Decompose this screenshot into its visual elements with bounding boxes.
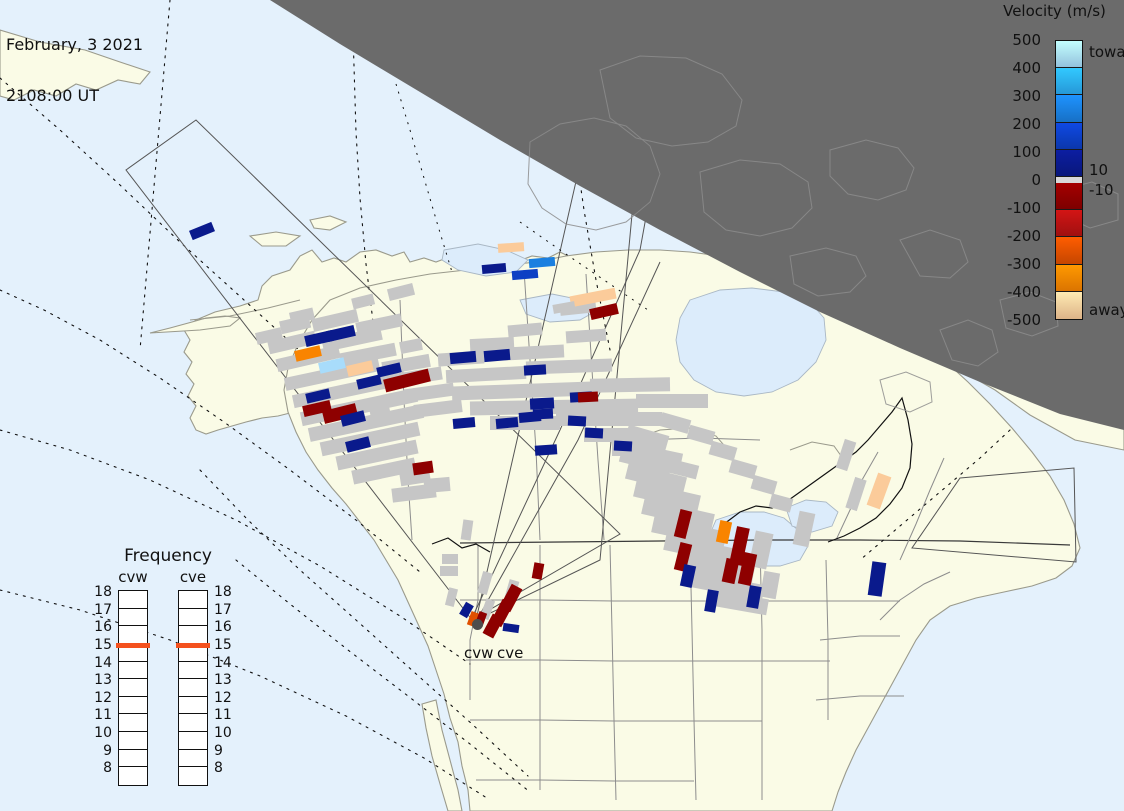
frequency-cell (119, 591, 147, 609)
colorbar-negative-threshold-label: -10 (1089, 181, 1114, 199)
colorbar-tick-label: 300 (1012, 87, 1041, 105)
frequency-tick-label: 12 (84, 690, 112, 706)
colorbar-tick-label: 0 (1031, 171, 1041, 189)
frequency-cell (179, 697, 207, 715)
colorbar-segment (1056, 237, 1082, 264)
frequency-cell (179, 714, 207, 732)
frequency-tick-label: 10 (214, 725, 242, 741)
colorbar-segment (1056, 68, 1082, 95)
frequency-tick-label: 11 (84, 707, 112, 723)
colorbar-segment (1056, 41, 1082, 68)
colorbar-title: Velocity (m/s) (985, 2, 1124, 20)
frequency-column-label: cve (166, 568, 220, 586)
frequency-tick-label: 15 (214, 637, 242, 653)
velocity-colorbar: Velocity (m/s) 5004003002001000-100-200-… (985, 0, 1124, 340)
colorbar-segment (1056, 150, 1082, 177)
colorbar-tick-label: 400 (1012, 59, 1041, 77)
velocity-cell (496, 417, 519, 429)
colorbar-segment (1056, 183, 1082, 210)
colorbar-tick-label: 500 (1012, 31, 1041, 49)
frequency-column-label: cvw (106, 568, 160, 586)
frequency-marker (176, 643, 210, 648)
colorbar-segment (1056, 95, 1082, 122)
velocity-cell (535, 444, 558, 456)
frequency-tick-label: 18 (214, 584, 242, 600)
frequency-tick-label: 14 (214, 655, 242, 671)
velocity-cell (568, 416, 586, 427)
timestamp-date: February, 3 2021 (6, 36, 143, 53)
frequency-cell (119, 767, 147, 785)
frequency-legend: Frequency cvw18171615141312111098cve1817… (88, 546, 248, 786)
frequency-tick-label: 9 (84, 743, 112, 759)
frequency-tick-label: 17 (84, 602, 112, 618)
velocity-cell (484, 349, 511, 362)
frequency-tick-label: 8 (84, 760, 112, 776)
colorbar-tick-label: -500 (1007, 311, 1041, 329)
frequency-cell (119, 609, 147, 627)
frequency-tick-label: 18 (84, 584, 112, 600)
colorbar-segment (1056, 265, 1082, 292)
frequency-cell (179, 591, 207, 609)
colorbar-tick-label: -200 (1007, 227, 1041, 245)
frequency-cell (119, 697, 147, 715)
velocity-cell (530, 397, 555, 409)
velocity-cell (450, 351, 477, 364)
colorbar-tick-label: 100 (1012, 143, 1041, 161)
colorbar-positive-threshold-label: 10 (1089, 161, 1108, 179)
frequency-cell (119, 732, 147, 750)
velocity-cell (498, 242, 525, 253)
frequency-tick-label: 13 (214, 672, 242, 688)
colorbar-away-label: away (1089, 301, 1124, 319)
frequency-tick-label: 16 (214, 619, 242, 635)
frequency-cell (119, 679, 147, 697)
frequency-tick-label: 16 (84, 619, 112, 635)
frequency-cell (179, 626, 207, 644)
frequency-tick-label: 14 (84, 655, 112, 671)
frequency-cell (119, 662, 147, 680)
frequency-tick-label: 15 (84, 637, 112, 653)
frequency-cell (179, 662, 207, 680)
frequency-tick-label: 8 (214, 760, 242, 776)
frequency-column-box (118, 590, 148, 786)
colorbar-tick-label: -300 (1007, 255, 1041, 273)
colorbar-segment (1056, 210, 1082, 237)
frequency-cell (119, 714, 147, 732)
frequency-tick-label: 12 (214, 690, 242, 706)
frequency-cell (179, 750, 207, 768)
frequency-cell (179, 679, 207, 697)
colorbar-segment (1056, 292, 1082, 319)
velocity-cell (614, 441, 632, 452)
frequency-cell (179, 767, 207, 785)
colorbar-tick-label: -100 (1007, 199, 1041, 217)
frequency-tick-label: 10 (84, 725, 112, 741)
frequency-cell (119, 626, 147, 644)
colorbar-tick-label: 200 (1012, 115, 1041, 133)
radar-station-label-cve: cve (497, 644, 523, 662)
frequency-legend-title: Frequency (88, 546, 248, 566)
frequency-cell (179, 609, 207, 627)
frequency-tick-label: 17 (214, 602, 242, 618)
timestamp-block: February, 3 2021 2108:00 UT (6, 2, 143, 138)
velocity-cell (453, 417, 476, 429)
frequency-tick-label: 13 (84, 672, 112, 688)
colorbar-box (1055, 40, 1083, 320)
radar-station-label-cvw: cvw (464, 644, 493, 662)
frequency-tick-label: 9 (214, 743, 242, 759)
colorbar-toward-label: toward (1089, 43, 1124, 61)
frequency-tick-label: 11 (214, 707, 242, 723)
velocity-cell (533, 408, 553, 419)
velocity-cell (585, 428, 603, 439)
timestamp-time: 2108:00 UT (6, 87, 143, 104)
colorbar-tick-label: -400 (1007, 283, 1041, 301)
frequency-column-box (178, 590, 208, 786)
frequency-cell (119, 750, 147, 768)
velocity-cell (578, 391, 598, 402)
frequency-marker (116, 643, 150, 648)
velocity-cell (524, 364, 546, 375)
radar-station-dot (472, 619, 483, 630)
colorbar-segment (1056, 123, 1082, 150)
frequency-cell (179, 732, 207, 750)
radar-velocity-map: February, 3 2021 2108:00 UT Velocity (m/… (0, 0, 1124, 811)
